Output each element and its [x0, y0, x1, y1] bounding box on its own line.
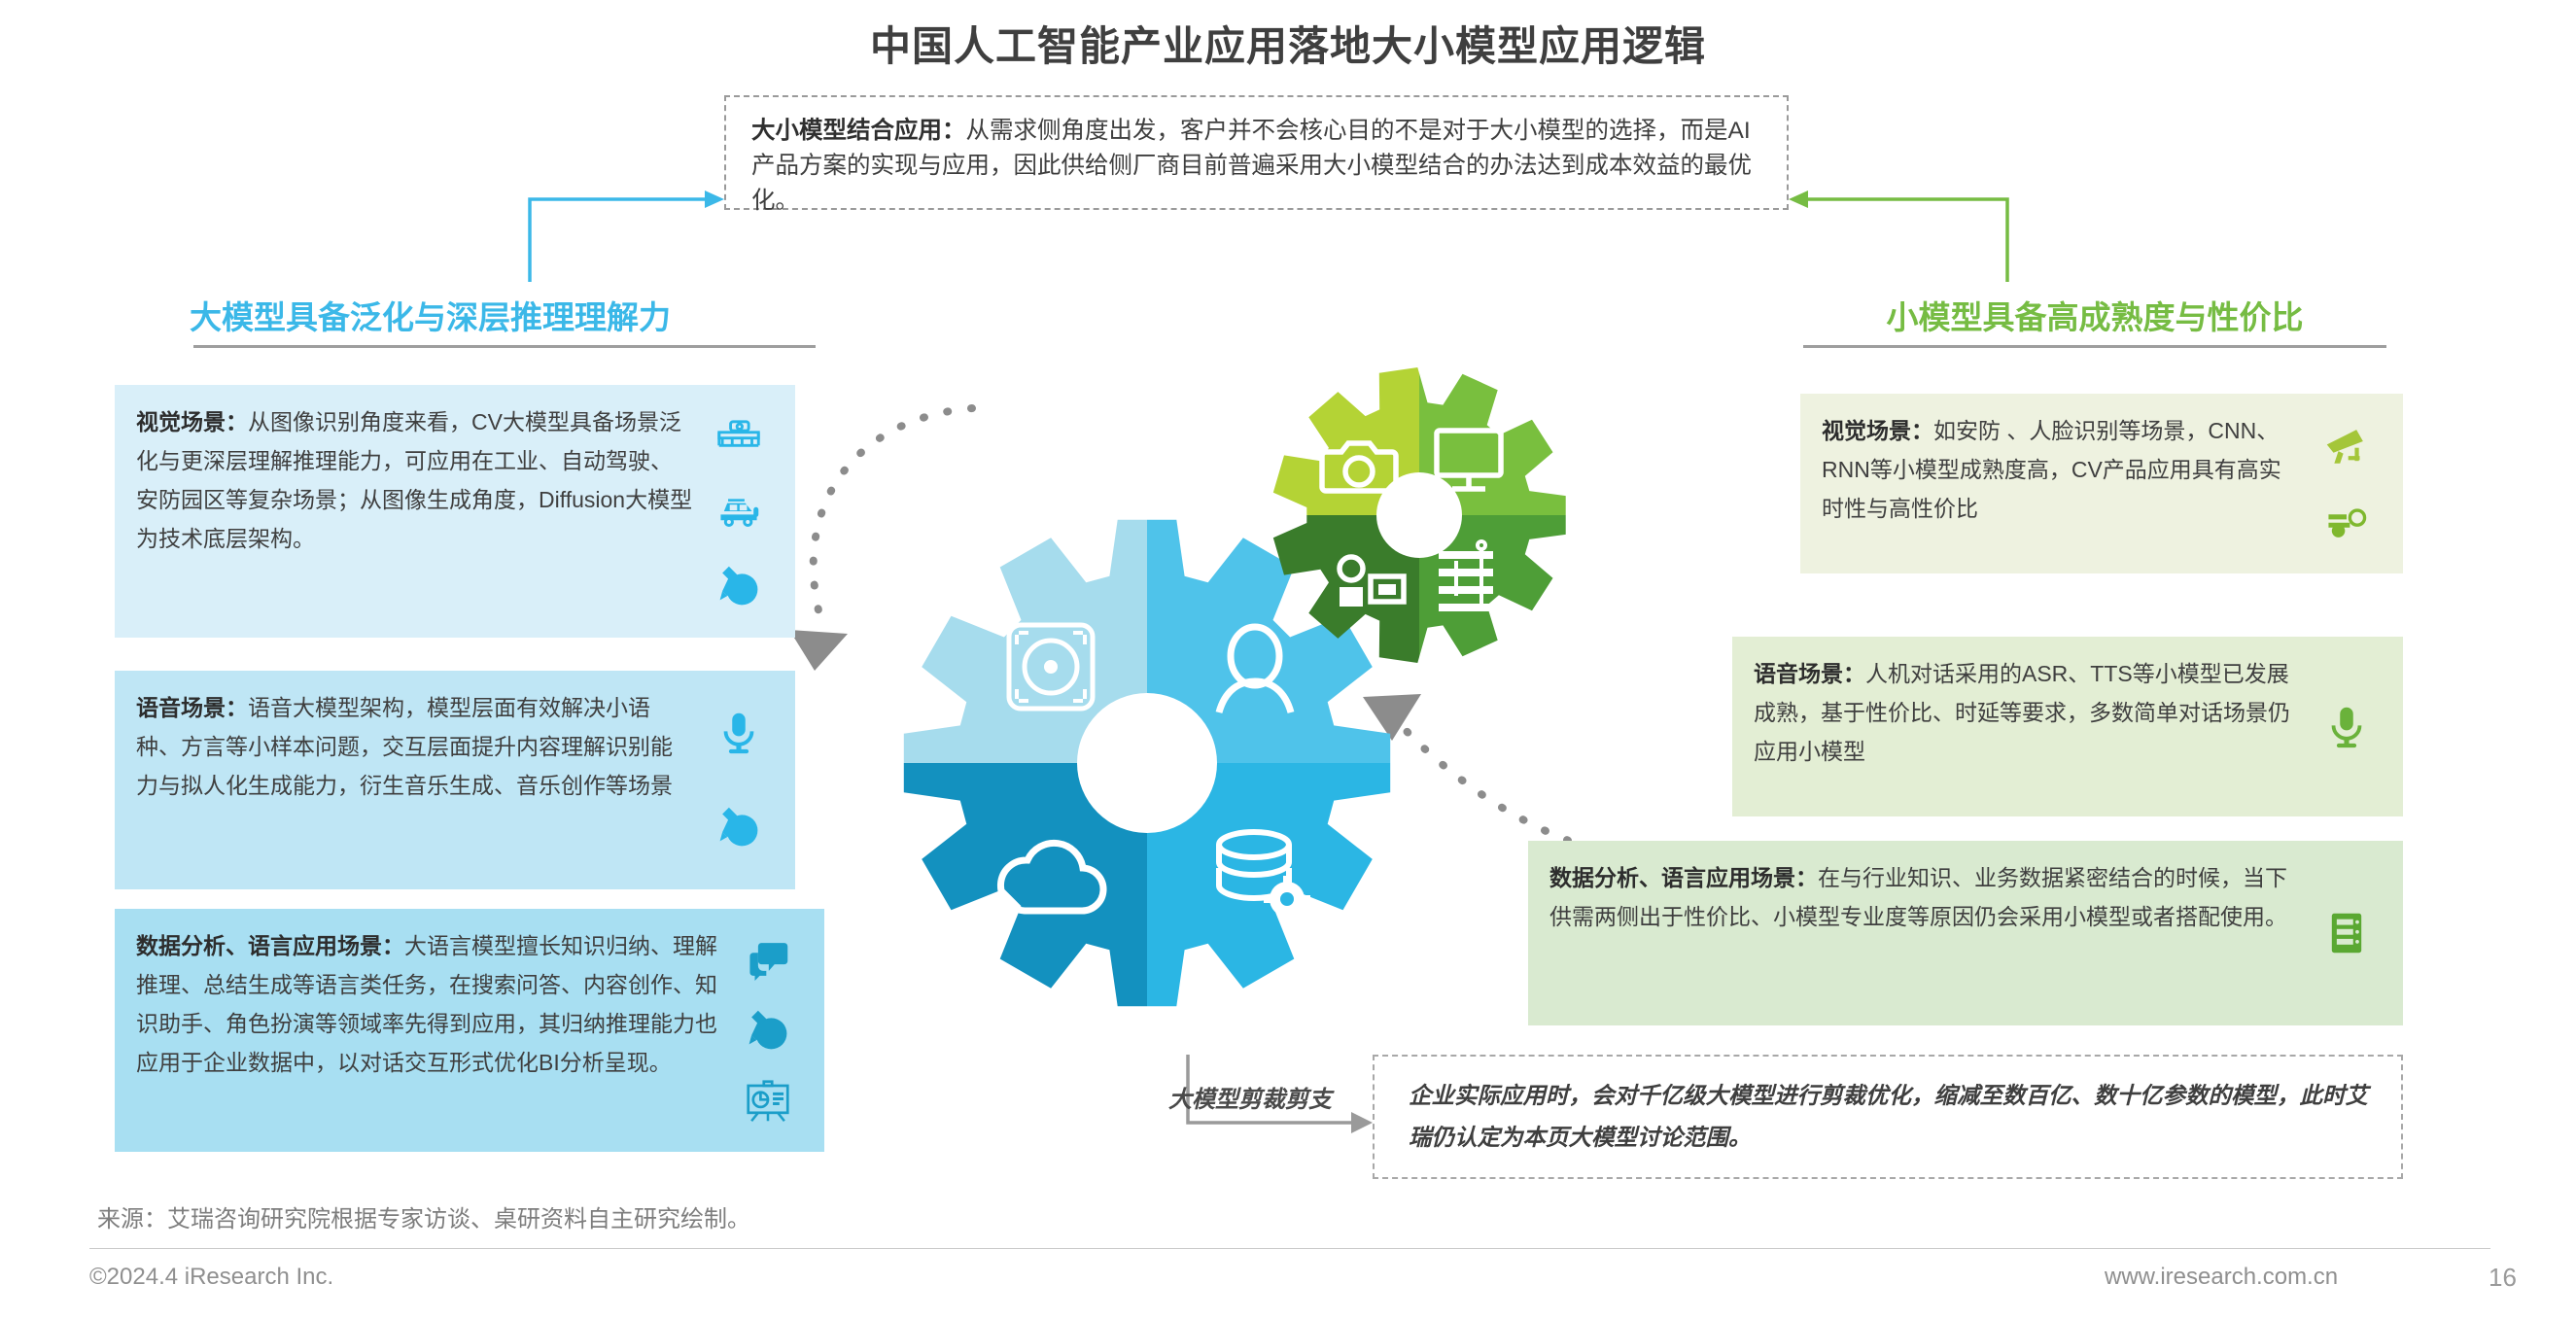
- big-gear-hub: [1077, 693, 1217, 833]
- server-rack-icon: [2316, 907, 2377, 959]
- website-url: www.iresearch.com.cn: [2105, 1264, 2338, 1291]
- big-gear: [904, 520, 1390, 1006]
- small-gear: [1273, 367, 1566, 663]
- right-box-3-icons: [2302, 858, 2391, 1008]
- page-title: 中国人工智能产业应用落地大小模型应用逻辑: [0, 14, 2576, 73]
- right-box-visual-scene: 视觉场景：如安防 、人脸识别等场景，CNN、RNN等小模型成熟度高，CV产品应用…: [1800, 394, 2403, 573]
- top-callout-label: 大小模型结合应用：: [751, 118, 966, 144]
- security-camera-icon: [2316, 420, 2377, 472]
- face-recognition-icon: [2316, 495, 2377, 547]
- right-box-2-label: 语音场景：: [1754, 661, 1865, 686]
- right-box-1-icons: [2302, 411, 2391, 556]
- left-box-3-text: 数据分析、语言应用场景：大语言模型擅长知识归纳、理解推理、总结生成等语言类任务，…: [136, 926, 723, 1082]
- top-callout-text: 大小模型结合应用：从需求侧角度出发，客户并不会核心目的不是对于大小模型的选择，而…: [751, 114, 1765, 219]
- left-heading-label: 大模型具备泛化与深层推理理解力: [190, 292, 816, 338]
- right-box-data-language-scene: 数据分析、语言应用场景：在与行业知识、业务数据紧密结合的时候，当下供需两侧出于性…: [1528, 841, 2403, 1025]
- source-note: 来源：艾瑞咨询研究院根据专家访谈、桌研资料自主研究绘制。: [97, 1199, 750, 1233]
- left-box-1-label: 视觉场景：: [136, 409, 248, 434]
- microphone-icon: [2316, 701, 2377, 753]
- top-callout-box: 大小模型结合应用：从需求侧角度出发，客户并不会核心目的不是对于大小模型的选择，而…: [724, 95, 1789, 210]
- small-gear-hub: [1376, 472, 1462, 558]
- left-box-3-label: 数据分析、语言应用场景：: [136, 933, 404, 958]
- right-box-2-text: 语音场景：人机对话采用的ASR、TTS等小模型已发展成熟，基于性价比、时延等要求…: [1754, 654, 2302, 771]
- left-box-visual-scene: 视觉场景：从图像识别角度来看，CV大模型具备场景泛化与更深层理解推理能力，可应用…: [115, 385, 795, 638]
- left-box-speech-scene: 语音场景：语音大模型架构，模型层面有效解决小语种、方言等小样本问题，交互层面提升…: [115, 671, 795, 889]
- right-heading-label: 小模型具备高成熟度与性价比: [1803, 292, 2386, 338]
- gear-illustration: [739, 345, 1633, 1113]
- right-section-heading: 小模型具备高成熟度与性价比: [1803, 292, 2386, 348]
- prune-label: 大模型剪裁剪支: [1168, 1080, 1332, 1114]
- left-heading-rule: [193, 345, 816, 348]
- right-box-1-text: 视觉场景：如安防 、人脸识别等场景，CNN、RNN等小模型成熟度高，CV产品应用…: [1822, 411, 2302, 528]
- bottom-note-text: 企业实际应用时，会对千亿级大模型进行剪裁优化，缩减至数百亿、数十亿参数的模型，此…: [1409, 1076, 2372, 1160]
- right-box-speech-scene: 语音场景：人机对话采用的ASR、TTS等小模型已发展成熟，基于性价比、时延等要求…: [1732, 637, 2403, 816]
- page-number: 16: [2489, 1263, 2517, 1293]
- right-box-2-icons: [2302, 654, 2391, 799]
- left-box-data-language-scene: 数据分析、语言应用场景：大语言模型擅长知识归纳、理解推理、总结生成等语言类任务，…: [115, 909, 824, 1152]
- right-heading-rule: [1803, 345, 2386, 348]
- right-box-1-label: 视觉场景：: [1822, 418, 1933, 443]
- footer-divider: [89, 1248, 2490, 1249]
- left-box-2-label: 语音场景：: [136, 695, 248, 720]
- copyright-text: ©2024.4 iResearch Inc.: [89, 1264, 333, 1291]
- left-section-heading: 大模型具备泛化与深层推理理解力: [190, 292, 816, 348]
- left-box-2-text: 语音场景：语音大模型架构，模型层面有效解决小语种、方言等小样本问题，交互层面提升…: [136, 688, 694, 805]
- bottom-note-box: 企业实际应用时，会对千亿级大模型进行剪裁优化，缩减至数百亿、数十亿参数的模型，此…: [1373, 1055, 2403, 1179]
- right-box-3-text: 数据分析、语言应用场景：在与行业知识、业务数据紧密结合的时候，当下供需两侧出于性…: [1549, 858, 2302, 936]
- left-box-1-text: 视觉场景：从图像识别角度来看，CV大模型具备场景泛化与更深层理解推理能力，可应用…: [136, 402, 694, 558]
